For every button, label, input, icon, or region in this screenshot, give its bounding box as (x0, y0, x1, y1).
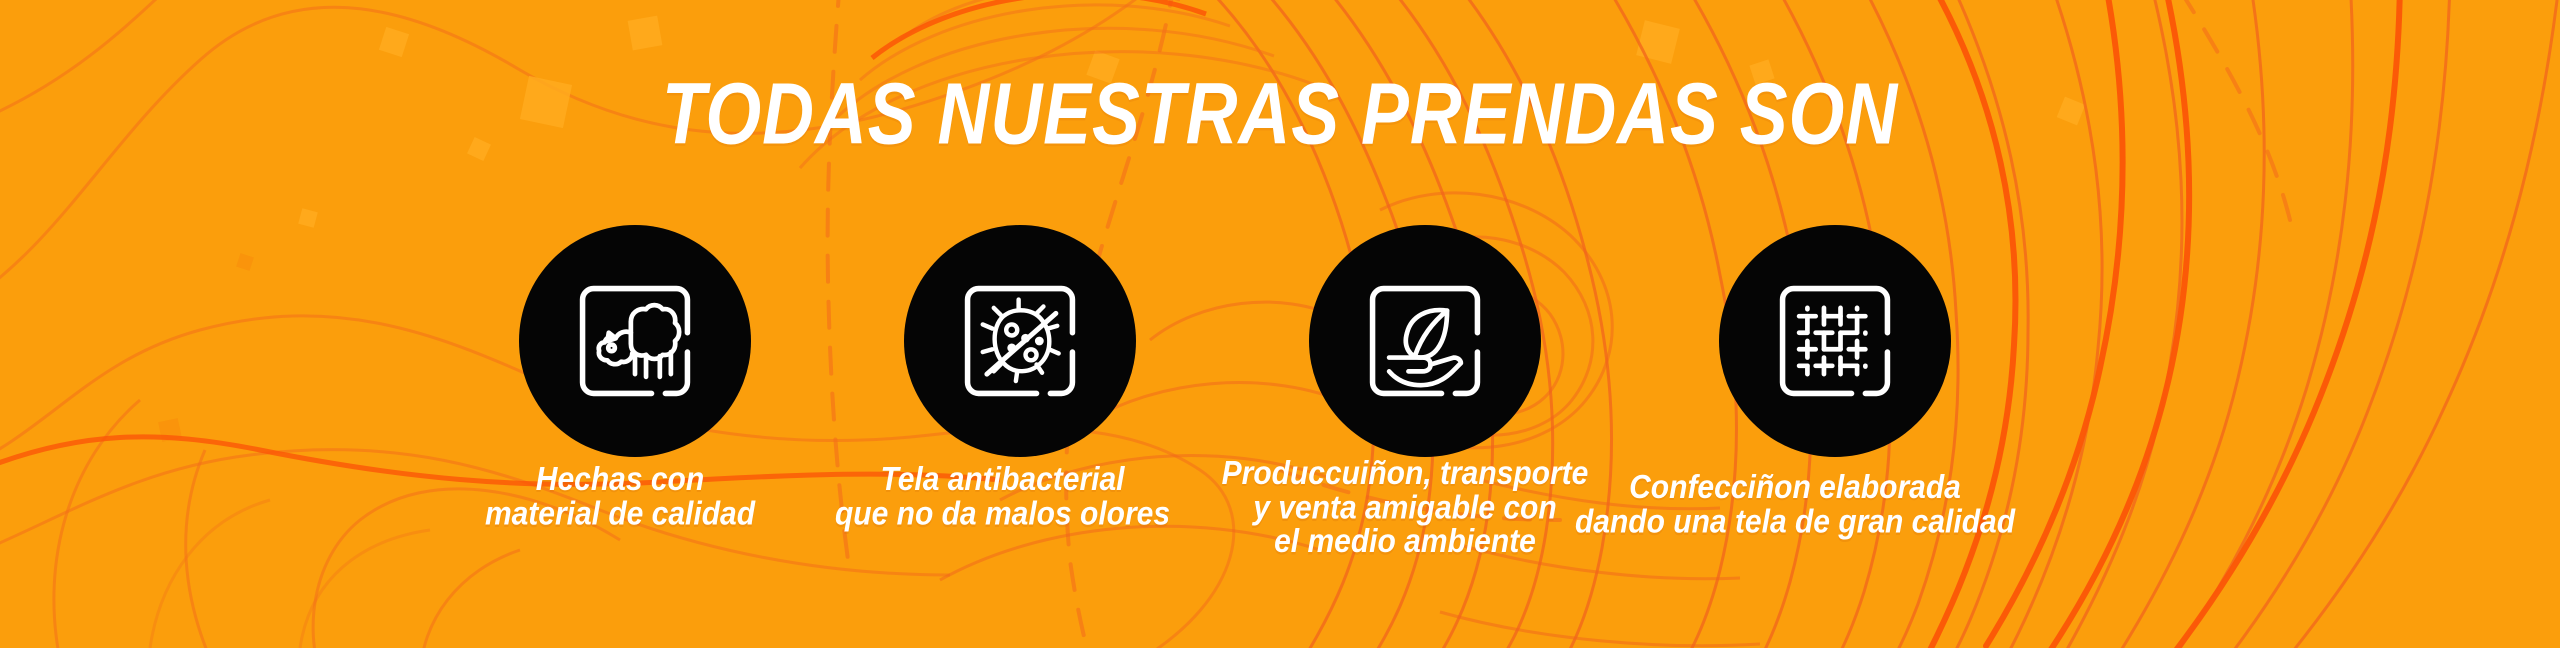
sheep-icon (566, 272, 704, 410)
feature-item-weave: Confecciñon elaborada dando una tela de … (1655, 225, 2015, 532)
feature-item-antibacterial: Tela antibacterial que no da malos olore… (840, 225, 1200, 524)
feature-caption: Confecciñon elaborada dando una tela de … (1535, 471, 2055, 540)
feature-icon-circle (519, 225, 751, 457)
promo-banner: TODAS NUESTRAS PRENDAS SON (0, 0, 2560, 648)
hand-leaf-icon (1356, 272, 1494, 410)
feature-list: Hechas con material de calidad (0, 225, 2560, 585)
feature-caption: Hechas con material de calidad (410, 463, 830, 532)
feature-icon-circle (1309, 225, 1541, 457)
feature-caption: Tela antibacterial que no da malos olore… (788, 463, 1218, 532)
antibacterial-icon (951, 272, 1089, 410)
feature-icon-circle (1719, 225, 1951, 457)
feature-item-material: Hechas con material de calidad (455, 225, 815, 524)
feature-icon-circle (904, 225, 1136, 457)
page-title: TODAS NUESTRAS PRENDAS SON (38, 68, 2521, 160)
fabric-weave-icon (1766, 272, 1904, 410)
